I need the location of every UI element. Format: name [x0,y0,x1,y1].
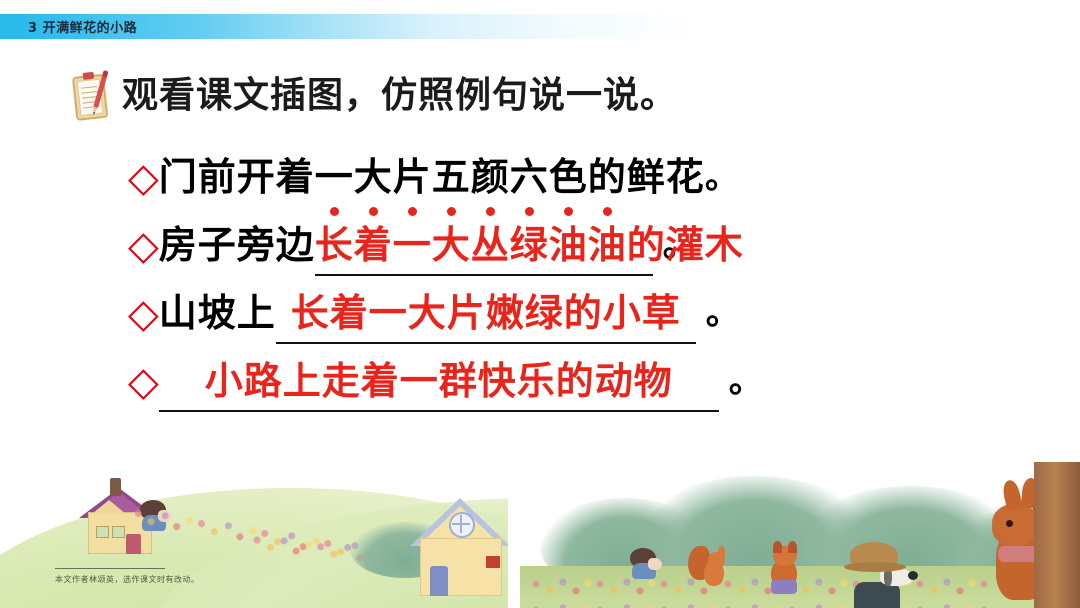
flower-meadow [530,574,990,608]
animals-meadow-illustration [520,462,1080,608]
squirrel-icon [690,548,730,598]
hat-brim [844,562,906,572]
squirrel-ear [718,546,725,558]
round-window [449,512,475,538]
diamond-marker-icon: ◇ [128,220,159,272]
line-4-answer: 小路上走着一群快乐的动物 [205,356,673,408]
answer-blank-4[interactable]: 小路上走着一群快乐的动物 [159,356,719,412]
example-period: 。 [705,152,739,204]
clipboard-pen-icon [70,68,116,124]
exercise-line-4: ◇ 小路上走着一群快乐的动物 。 [128,356,928,424]
hillside-house-illustration: 本文作者林颂英，选作课文时有改动。 [0,462,508,608]
badger-with-hat-icon [850,542,920,608]
exercise-lines: ◇ 门前开着 一大片五颜六色的 鲜花 。 ◇ 房子旁边 长着一大丛绿油油的灌木 … [128,152,928,424]
line-2-answer: 长着一大丛绿油油的灌木 [315,220,744,272]
line-3-answer: 长着一大片嫩绿的小草 [291,288,681,340]
illustration-strip: 本文作者林颂英，选作课文时有改动。 [0,462,1080,608]
line-4-period: 。 [729,356,763,408]
diamond-marker-icon: ◇ [128,152,159,204]
exercise-line-3: ◇ 山坡上 长着一大片嫩绿的小草 。 [128,288,928,356]
exercise-line-example: ◇ 门前开着 一大片五颜六色的 鲜花 。 [128,152,928,220]
answer-blank-3[interactable]: 长着一大片嫩绿的小草 [276,288,696,344]
fox-pants [771,580,797,594]
house2-door [430,566,448,596]
mailbox [486,556,500,568]
emphasis-dots [315,207,627,216]
exercise-line-2: ◇ 房子旁边 长着一大丛绿油油的灌木 。 [128,220,928,288]
line-2-prefix: 房子旁边 [159,220,315,272]
gable [92,500,126,514]
example-prefix: 门前开着 [159,152,315,204]
prompt-row: 观看课文插图，仿照例句说一说。 [70,68,677,124]
lesson-breadcrumb-title: 3 开满鲜花的小路 [28,17,137,36]
hedgehog-face [648,558,662,570]
door [126,534,141,554]
diamond-marker-icon: ◇ [128,356,159,408]
line-3-prefix: 山坡上 [159,288,276,340]
window [96,526,109,538]
fox-icon [765,546,805,598]
footnote-rule [55,568,165,569]
fox-ear [788,541,797,553]
chimney [110,478,121,496]
big-squirrel-eye [1006,520,1013,527]
example-emphasis: 一大片五颜六色的 [315,152,627,204]
yellow-house-icon [420,496,500,596]
window [112,526,125,538]
line-3-period: 。 [706,288,740,340]
example-suffix: 鲜花 [627,152,705,204]
answer-blank-2[interactable]: 长着一大丛绿油油的灌木 [315,220,653,276]
example-emphasis-text: 一大片五颜六色的 [315,157,627,199]
tree-trunk [1034,462,1080,608]
hedgehog-icon [630,548,670,596]
fox-ear [773,541,782,553]
diamond-marker-icon: ◇ [128,288,159,340]
badger-nose [908,571,918,580]
prompt-text: 观看课文插图，仿照例句说一说。 [122,78,677,114]
footnote-text: 本文作者林颂英，选作课文时有改动。 [55,574,200,585]
